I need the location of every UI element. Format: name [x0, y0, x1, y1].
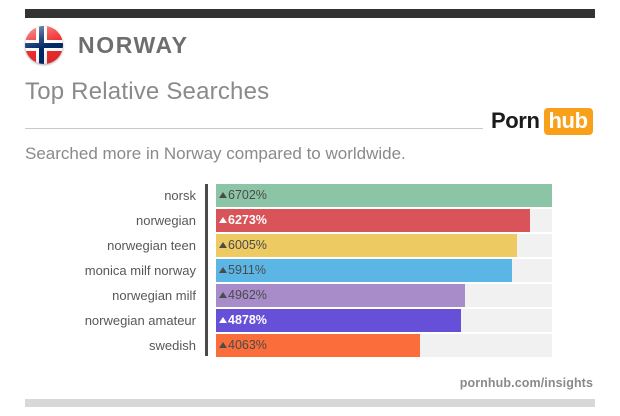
pornhub-logo: Porn hub — [491, 108, 593, 134]
chart-row-value-text: 4063% — [228, 338, 267, 352]
country-header: NORWAY — [25, 25, 189, 65]
chart-row-track: 5911% — [216, 259, 552, 282]
country-name: NORWAY — [78, 34, 189, 57]
infographic-page: NORWAY Top Relative Searches Porn hub Se… — [0, 0, 620, 416]
up-triangle-icon — [219, 217, 227, 223]
chart-row-track: 4878% — [216, 309, 552, 332]
chart-row-list: norsk6702%norwegian6273%norwegian teen60… — [0, 184, 620, 359]
chart-row-track: 4063% — [216, 334, 552, 357]
page-subtitle: Searched more in Norway compared to worl… — [25, 144, 406, 164]
page-title: Top Relative Searches — [25, 79, 269, 105]
up-triangle-icon — [219, 342, 227, 348]
title-divider — [25, 128, 483, 129]
chart-row-track: 6273% — [216, 209, 552, 232]
chart-row: norsk6702% — [0, 184, 620, 207]
chart-row-label: norwegian amateur — [0, 309, 208, 332]
chart-row: norwegian6273% — [0, 209, 620, 232]
chart-row: norwegian teen6005% — [0, 234, 620, 257]
brand-word-hub: hub — [544, 108, 593, 135]
relative-searches-bar-chart: norsk6702%norwegian6273%norwegian teen60… — [0, 184, 620, 356]
chart-row: norwegian amateur4878% — [0, 309, 620, 332]
chart-row-track: 4962% — [216, 284, 552, 307]
chart-row-label: monica milf norway — [0, 259, 208, 282]
chart-row: monica milf norway5911% — [0, 259, 620, 282]
chart-row-value-text: 4962% — [228, 288, 267, 302]
chart-row-track: 6702% — [216, 184, 552, 207]
bottom-divider-rule — [25, 399, 595, 407]
chart-row-label: norwegian — [0, 209, 208, 232]
chart-row-label: norwegian milf — [0, 284, 208, 307]
norway-flag-circle-icon — [25, 26, 63, 64]
chart-row-value: 6702% — [219, 184, 267, 207]
chart-row-value: 6273% — [219, 209, 267, 232]
chart-row-value: 5911% — [219, 259, 266, 282]
chart-row-value-text: 5911% — [228, 263, 266, 277]
chart-row-value: 4063% — [219, 334, 267, 357]
up-triangle-icon — [219, 317, 227, 323]
up-triangle-icon — [219, 267, 227, 273]
up-triangle-icon — [219, 292, 227, 298]
brand-word-porn: Porn — [491, 110, 540, 132]
chart-row-value: 4878% — [219, 309, 267, 332]
chart-row: norwegian milf4962% — [0, 284, 620, 307]
chart-row-value-text: 6702% — [228, 188, 267, 202]
footer-url: pornhub.com/insights — [460, 376, 593, 390]
chart-row-value-text: 6005% — [228, 238, 267, 252]
top-divider-rule — [25, 9, 595, 18]
chart-row: swedish4063% — [0, 334, 620, 357]
chart-row-value-text: 4878% — [228, 313, 267, 327]
chart-row-label: norsk — [0, 184, 208, 207]
up-triangle-icon — [219, 242, 227, 248]
chart-row-label: swedish — [0, 334, 208, 357]
chart-row-track: 6005% — [216, 234, 552, 257]
chart-row-value: 4962% — [219, 284, 267, 307]
chart-row-value: 6005% — [219, 234, 267, 257]
chart-row-value-text: 6273% — [228, 213, 267, 227]
up-triangle-icon — [219, 192, 227, 198]
chart-row-label: norwegian teen — [0, 234, 208, 257]
